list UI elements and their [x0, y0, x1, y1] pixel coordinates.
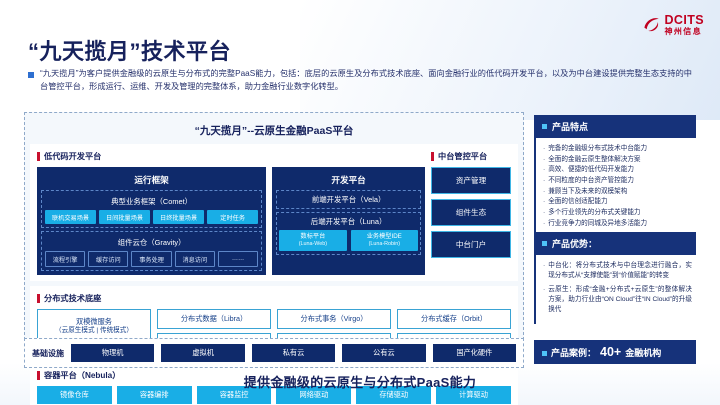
infrastructure-item[interactable]: 国产化硬件: [433, 344, 516, 362]
feature-text: 行业竞争力的同城及异地多活能力: [548, 219, 647, 230]
runtime-group-comet: 典型业务框架（Comet） 联机交易场景 日间批量场景 日终批量场景 定时任务: [41, 190, 262, 228]
dev-platform-title: 开发平台: [276, 171, 421, 190]
brand-logo-en: DCITS: [665, 14, 705, 27]
section-bar-icon: [431, 152, 434, 161]
base-item-sub: （云原生模式 | 传统模式）: [40, 327, 148, 336]
comet-title: 典型业务框架（Comet）: [45, 194, 258, 210]
infrastructure-item[interactable]: 物理机: [71, 344, 154, 362]
feature-text: 全面的信创适配能力: [548, 197, 607, 208]
base-item-virgo[interactable]: 分布式事务（Virgo）: [277, 309, 391, 329]
gravity-item[interactable]: 缓存访问: [88, 251, 128, 267]
dev-child-name: 业务模型IDE: [367, 233, 402, 240]
midoffice-items: 资产管理 组件生态 中台门户: [431, 167, 511, 258]
dot-icon: ·: [543, 187, 545, 198]
base-item-name: 双模微服务: [76, 317, 112, 326]
bullet-square-icon: [28, 72, 34, 78]
dcits-swoosh-icon: [642, 15, 661, 34]
lowcode-section-label: 低代码开发平台: [44, 150, 101, 162]
bullet-square-icon: [542, 351, 547, 356]
midoffice-control-block: 中台管控平台 资产管理 组件生态 中台门户: [431, 150, 511, 275]
layer-lowcode-midoffice: 低代码开发平台 运行框架 典型业务框架（Comet） 联机交易场景 日间批量场景…: [30, 144, 518, 281]
feature-text: 全面的金融云原生整体解决方案: [548, 155, 640, 166]
feature-text: 不同粒度的中台资产管控能力: [548, 176, 634, 187]
dev-platform-box: 开发平台 前端开发平台（Vela） 后端开发平台（Luna） 数标平台 (Lun…: [272, 167, 425, 275]
dev-backend-label: 后端开发平台（Luna）: [279, 216, 418, 227]
gravity-items: 流程引擎 缓存访问 事务处理 消息访问 ……: [45, 251, 258, 267]
runtime-title: 运行框架: [41, 171, 262, 190]
dev-backend-children: 数标平台 (Luna-Web) 业务模型IDE (Luna-Robin): [279, 230, 418, 251]
comet-item[interactable]: 日终批量场景: [153, 210, 204, 224]
midoffice-section-header: 中台管控平台: [431, 150, 511, 162]
dev-child-code: (Luna-Robin): [352, 241, 417, 248]
brand-logo: DCITS 神州信息: [642, 14, 705, 36]
base-item-libra[interactable]: 分布式数据（Libra）: [157, 309, 271, 329]
feature-item: ·多个行业领先的分布式关键能力: [543, 208, 692, 219]
dot-icon: ·: [543, 261, 545, 281]
dot-icon: ·: [543, 285, 545, 315]
intro-bullet: “九天揽月”为客户提供金融级的云原生与分布式的完整PaaS能力，包括：底层的云原…: [28, 68, 692, 93]
advantages-heading-label: 产品优势：: [552, 237, 597, 250]
cases-heading: 产品案例： 40+ 金融机构: [534, 340, 696, 364]
dev-frontend-line[interactable]: 前端开发平台（Vela）: [276, 190, 421, 209]
features-heading-label: 产品特点: [552, 120, 588, 133]
advantage-text: 云原生：形成“金融+分布式+云原生”的整体解决方案，助力行业由“ON Cloud…: [548, 285, 692, 315]
dev-child-code: (Luna-Web): [280, 241, 345, 248]
feature-text: 高效、便捷的低代码开发能力: [548, 165, 634, 176]
dot-icon: ·: [543, 176, 545, 187]
lowcode-platform-block: 低代码开发平台 运行框架 典型业务框架（Comet） 联机交易场景 日间批量场景…: [37, 150, 425, 275]
lowcode-section-header: 低代码开发平台: [37, 150, 425, 162]
dev-child-name: 数标平台: [301, 233, 326, 240]
infrastructure-item[interactable]: 私有云: [252, 344, 335, 362]
advantages-list: ·中台化：将分布式技术与中台理念进行融合，实现分布式从“支撑使能”到“价值赋能”…: [534, 255, 696, 324]
dot-icon: ·: [543, 197, 545, 208]
gravity-item[interactable]: ……: [218, 251, 258, 267]
advantage-item: ·云原生：形成“金融+分布式+云原生”的整体解决方案，助力行业由“ON Clou…: [543, 285, 692, 315]
comet-items: 联机交易场景 日间批量场景 日终批量场景 定时任务: [45, 210, 258, 224]
feature-item: ·全面的金融云原生整体解决方案: [543, 155, 692, 166]
infrastructure-strip: 基础设施 物理机 虚拟机 私有云 公有云 国产化硬件: [24, 338, 524, 368]
midoffice-item[interactable]: 中台门户: [431, 231, 511, 258]
panel-product-features: 产品特点 ·完备的金融级分布式技术中台能力 ·全面的金融云原生整体解决方案 ·高…: [534, 115, 696, 235]
feature-text: 兼顾当下及未来的双模架构: [548, 187, 627, 198]
advantages-heading: 产品优势：: [534, 232, 696, 255]
gravity-item[interactable]: 流程引擎: [45, 251, 85, 267]
feature-item: ·全面的信创适配能力: [543, 197, 692, 208]
advantage-text: 中台化：将分布式技术与中台理念进行融合，实现分布式从“支撑使能”到“价值赋能”的…: [548, 261, 692, 281]
gravity-title: 组件云仓（Gravity）: [45, 235, 258, 251]
feature-item: ·不同粒度的中台资产管控能力: [543, 176, 692, 187]
panel-product-cases: 产品案例： 40+ 金融机构: [534, 340, 696, 364]
base-item-orbit[interactable]: 分布式缓存（Orbit）: [397, 309, 511, 329]
cases-unit: 金融机构: [625, 346, 661, 359]
dot-icon: ·: [543, 144, 545, 155]
base-section-label: 分布式技术底座: [44, 292, 101, 304]
gravity-item[interactable]: 消息访问: [175, 251, 215, 267]
infrastructure-item[interactable]: 虚拟机: [161, 344, 244, 362]
gravity-item[interactable]: 事务处理: [131, 251, 171, 267]
dev-child-luna-robin[interactable]: 业务模型IDE (Luna-Robin): [351, 230, 418, 251]
dev-backend-line: 后端开发平台（Luna） 数标平台 (Luna-Web) 业务模型IDE (Lu…: [276, 212, 421, 255]
infrastructure-item[interactable]: 公有云: [342, 344, 425, 362]
feature-item: ·完备的金融级分布式技术中台能力: [543, 144, 692, 155]
infrastructure-label: 基础设施: [32, 348, 64, 359]
page-title: “九天揽月”技术平台: [28, 34, 231, 66]
footer-tagline: 提供金融级的云原生与分布式PaaS能力: [0, 372, 720, 391]
architecture-panel: “九天揽月”--云原生金融PaaS平台 低代码开发平台 运行框架 典型业务框架（…: [24, 112, 524, 360]
bullet-square-icon: [542, 124, 547, 129]
panel-product-advantages: 产品优势： ·中台化：将分布式技术与中台理念进行融合，实现分布式从“支撑使能”到…: [534, 232, 696, 324]
midoffice-section-label: 中台管控平台: [438, 150, 487, 162]
feature-item: ·兼顾当下及未来的双模架构: [543, 187, 692, 198]
advantage-item: ·中台化：将分布式技术与中台理念进行融合，实现分布式从“支撑使能”到“价值赋能”…: [543, 261, 692, 281]
feature-text: 完备的金融级分布式技术中台能力: [548, 144, 647, 155]
dot-icon: ·: [543, 155, 545, 166]
comet-item[interactable]: 联机交易场景: [45, 210, 96, 224]
features-heading: 产品特点: [534, 115, 696, 138]
comet-item[interactable]: 日间批量场景: [99, 210, 150, 224]
midoffice-item[interactable]: 组件生态: [431, 199, 511, 226]
dev-frontend-label: 前端开发平台（Vela）: [279, 194, 418, 205]
section-bar-icon: [37, 294, 40, 303]
midoffice-item[interactable]: 资产管理: [431, 167, 511, 194]
feature-item: ·高效、便捷的低代码开发能力: [543, 165, 692, 176]
cases-heading-label: 产品案例：: [551, 346, 596, 359]
comet-item[interactable]: 定时任务: [207, 210, 258, 224]
base-section-header: 分布式技术底座: [37, 292, 511, 304]
runtime-framework-box: 运行框架 典型业务框架（Comet） 联机交易场景 日间批量场景 日终批量场景 …: [37, 167, 266, 275]
architecture-title: “九天揽月”--云原生金融PaaS平台: [30, 118, 518, 144]
dot-icon: ·: [543, 219, 545, 230]
features-list: ·完备的金融级分布式技术中台能力 ·全面的金融云原生整体解决方案 ·高效、便捷的…: [534, 138, 696, 235]
dot-icon: ·: [543, 208, 545, 219]
feature-text: 多个行业领先的分布式关键能力: [548, 208, 640, 219]
dot-icon: ·: [543, 165, 545, 176]
feature-item: ·行业竞争力的同城及异地多活能力: [543, 219, 692, 230]
cases-count: 40+: [600, 345, 621, 359]
bullet-square-icon: [542, 241, 547, 246]
intro-text: “九天揽月”为客户提供金融级的云原生与分布式的完整PaaS能力，包括：底层的云原…: [40, 68, 692, 93]
section-bar-icon: [37, 152, 40, 161]
dev-child-luna-web[interactable]: 数标平台 (Luna-Web): [279, 230, 346, 251]
runtime-group-gravity: 组件云仓（Gravity） 流程引擎 缓存访问 事务处理 消息访问 ……: [41, 231, 262, 271]
brand-logo-cn: 神州信息: [665, 28, 705, 36]
